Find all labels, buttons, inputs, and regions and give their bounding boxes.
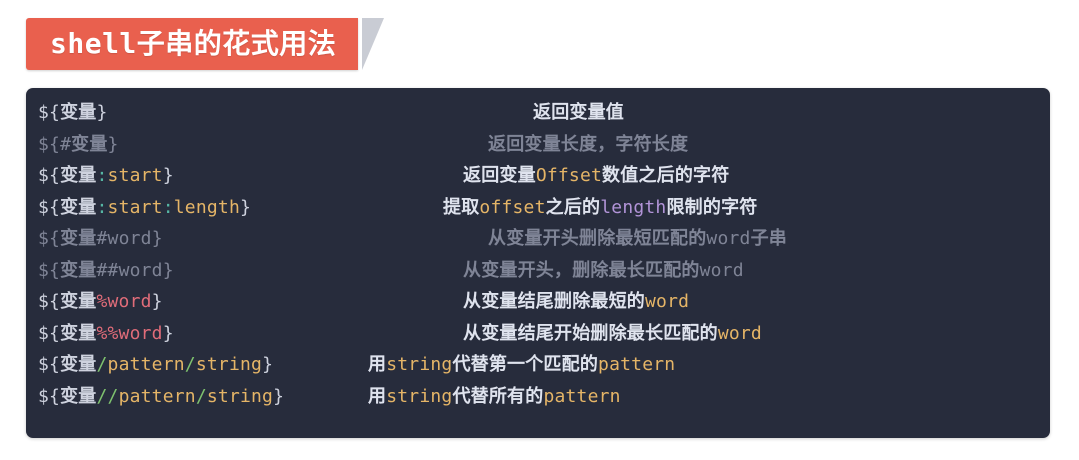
code-token: word xyxy=(108,228,152,249)
syntax-expression: ${变量%word} xyxy=(38,287,323,313)
code-token: length xyxy=(174,197,240,218)
syntax-description-text: 返回变量值 xyxy=(533,98,624,124)
code-token: string xyxy=(207,386,273,407)
code-token: 限制的字符 xyxy=(666,197,757,218)
syntax-description: 返回变量Offset数值之后的字符 xyxy=(323,161,1050,187)
title-banner-body: shell子串的花式用法 xyxy=(26,18,358,70)
code-token: word xyxy=(119,260,163,281)
syntax-expression: ${变量%%word} xyxy=(38,319,323,345)
code-token: / xyxy=(96,354,107,375)
code-token: 从变量开头删除最短匹配的 xyxy=(488,228,706,249)
code-token: ${ xyxy=(38,228,60,249)
syntax-description: 从变量结尾开始删除最长匹配的word xyxy=(323,319,1050,345)
syntax-description: 用string代替第一个匹配的pattern xyxy=(323,350,1050,376)
code-token: ${ xyxy=(38,386,60,407)
syntax-description-text: 从变量结尾删除最短的word xyxy=(463,287,689,313)
code-token: string xyxy=(386,386,452,407)
syntax-expression: ${变量:start} xyxy=(38,161,323,187)
code-row: ${#变量}返回变量长度，字符长度 xyxy=(26,130,1050,162)
code-token: } xyxy=(273,386,284,407)
syntax-description: 提取offset之后的length限制的字符 xyxy=(323,193,1050,219)
syntax-description-text: 从变量开头删除最短匹配的word子串 xyxy=(488,224,787,250)
code-token: } xyxy=(163,260,174,281)
code-token: 从变量结尾开始删除最长匹配的 xyxy=(463,323,718,344)
syntax-expression: ${#变量} xyxy=(38,130,323,156)
code-token: ${ xyxy=(38,260,60,281)
code-token: 返回变量值 xyxy=(533,102,624,123)
code-token: length xyxy=(600,197,666,218)
code-token: 变量 xyxy=(71,134,107,155)
code-row-list: ${变量}返回变量值${#变量}返回变量长度，字符长度${变量:start}返回… xyxy=(26,98,1050,413)
code-token: 变量 xyxy=(60,354,96,375)
code-token: ${ xyxy=(38,291,60,312)
code-token: pattern xyxy=(108,354,185,375)
syntax-description: 用string代替所有的pattern xyxy=(323,382,1050,408)
code-token: # xyxy=(60,134,71,155)
code-token: pattern xyxy=(119,386,196,407)
code-token: ${ xyxy=(38,102,60,123)
code-row: ${变量##word}从变量开头，删除最长匹配的word xyxy=(26,256,1050,288)
code-token: word xyxy=(718,323,762,344)
syntax-description: 返回变量长度，字符长度 xyxy=(323,130,1050,156)
title-banner: shell子串的花式用法 xyxy=(26,18,384,70)
code-token: 用 xyxy=(368,354,386,375)
code-token: } xyxy=(96,102,107,123)
syntax-description: 从变量开头删除最短匹配的word子串 xyxy=(323,224,1050,250)
code-token: 从变量结尾删除最短的 xyxy=(463,291,645,312)
code-token: ${ xyxy=(38,354,60,375)
code-token: } xyxy=(262,354,273,375)
code-row: ${变量%word}从变量结尾删除最短的word xyxy=(26,287,1050,319)
code-token: ${ xyxy=(38,134,60,155)
syntax-description-text: 从变量开头，删除最长匹配的word xyxy=(463,256,744,282)
code-token: 变量 xyxy=(60,197,96,218)
code-token: 用 xyxy=(368,386,386,407)
code-row: ${变量#word}从变量开头删除最短匹配的word子串 xyxy=(26,224,1050,256)
code-token: %word xyxy=(96,291,151,312)
code-token: } xyxy=(152,291,163,312)
code-token: start xyxy=(108,165,163,186)
code-token: 数值之后的字符 xyxy=(602,165,729,186)
syntax-expression: ${变量} xyxy=(38,98,323,124)
code-token: ${ xyxy=(38,165,60,186)
code-token: / xyxy=(196,386,207,407)
page-title: shell子串的花式用法 xyxy=(50,30,336,58)
syntax-description-text: 用string代替第一个匹配的pattern xyxy=(368,350,675,376)
banner-tail-shape xyxy=(358,18,384,70)
syntax-description: 从变量开头，删除最长匹配的word xyxy=(323,256,1050,282)
code-token: // xyxy=(96,386,118,407)
code-token: : xyxy=(163,197,174,218)
code-token: / xyxy=(185,354,196,375)
code-token: ${ xyxy=(38,323,60,344)
syntax-expression: ${变量//pattern/string} xyxy=(38,382,323,408)
code-panel: ${变量}返回变量值${#变量}返回变量长度，字符长度${变量:start}返回… xyxy=(26,88,1050,438)
code-token: 从变量开头，删除最长匹配的 xyxy=(463,260,700,281)
code-token: 代替所有的 xyxy=(452,386,543,407)
code-token: 变量 xyxy=(60,386,96,407)
code-token: pattern xyxy=(598,354,675,375)
code-token: # xyxy=(96,228,107,249)
syntax-description-text: 从变量结尾开始删除最长匹配的word xyxy=(463,319,762,345)
syntax-description: 从变量结尾删除最短的word xyxy=(323,287,1050,313)
syntax-expression: ${变量/pattern/string} xyxy=(38,350,323,376)
code-token: 变量 xyxy=(60,323,96,344)
syntax-expression: ${变量##word} xyxy=(38,256,323,282)
code-token: 提取 xyxy=(443,197,479,218)
code-token: pattern xyxy=(543,386,620,407)
code-token: string xyxy=(196,354,262,375)
code-row: ${变量}返回变量值 xyxy=(26,98,1050,130)
code-token: 子串 xyxy=(751,228,787,249)
code-token: word xyxy=(700,260,744,281)
code-token: 之后的 xyxy=(546,197,601,218)
syntax-expression: ${变量#word} xyxy=(38,224,323,250)
syntax-expression: ${变量:start:length} xyxy=(38,193,323,219)
code-token: string xyxy=(386,354,452,375)
syntax-description-text: 返回变量Offset数值之后的字符 xyxy=(463,161,729,187)
code-token: 返回变量长度，字符长度 xyxy=(488,134,688,155)
code-token: 变量 xyxy=(60,291,96,312)
code-token: 变量 xyxy=(60,102,96,123)
code-token: } xyxy=(108,134,119,155)
code-token: 返回变量 xyxy=(463,165,536,186)
code-token: 变量 xyxy=(60,165,96,186)
code-token: } xyxy=(152,228,163,249)
code-token: : xyxy=(96,197,107,218)
code-token: } xyxy=(163,165,174,186)
code-token: start xyxy=(108,197,163,218)
code-token: 变量 xyxy=(60,260,96,281)
code-token: %%word xyxy=(96,323,162,344)
code-token: } xyxy=(240,197,251,218)
code-token: word xyxy=(706,228,750,249)
syntax-description: 返回变量值 xyxy=(323,98,1050,124)
code-row: ${变量:start}返回变量Offset数值之后的字符 xyxy=(26,161,1050,193)
code-token: 变量 xyxy=(60,228,96,249)
code-token: } xyxy=(163,323,174,344)
code-token: Offset xyxy=(536,165,602,186)
code-token: : xyxy=(96,165,107,186)
syntax-description-text: 返回变量长度，字符长度 xyxy=(488,130,688,156)
code-token: ${ xyxy=(38,197,60,218)
syntax-description-text: 用string代替所有的pattern xyxy=(368,382,621,408)
code-row: ${变量%%word}从变量结尾开始删除最长匹配的word xyxy=(26,319,1050,351)
code-token: ## xyxy=(96,260,118,281)
code-row: ${变量/pattern/string}用string代替第一个匹配的patte… xyxy=(26,350,1050,382)
syntax-description-text: 提取offset之后的length限制的字符 xyxy=(443,193,757,219)
code-token: offset xyxy=(479,197,545,218)
code-row: ${变量:start:length}提取offset之后的length限制的字符 xyxy=(26,193,1050,225)
code-token: word xyxy=(645,291,689,312)
code-row: ${变量//pattern/string}用string代替所有的pattern xyxy=(26,382,1050,414)
code-token: 代替第一个匹配的 xyxy=(452,354,598,375)
